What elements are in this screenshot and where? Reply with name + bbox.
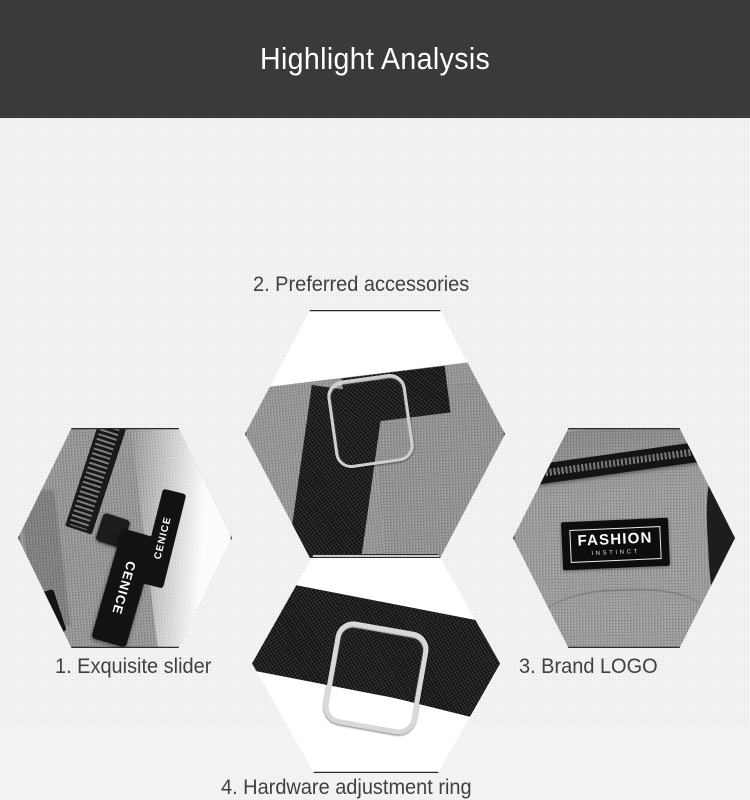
brand-logo-frame: FASHION INSTINCT — [569, 526, 662, 563]
ring-photo — [252, 554, 500, 773]
caption-brand-logo: 3. Brand LOGO — [519, 655, 658, 679]
metal-loop-ring — [325, 372, 415, 470]
accessories-photo — [245, 310, 505, 558]
slider-photo: CENICE CENICE — [18, 428, 232, 648]
feature-hexagon-adjustment-ring[interactable] — [252, 554, 500, 773]
page-title: Highlight Analysis — [260, 41, 490, 77]
accessories-photo-clip — [245, 310, 505, 558]
brand-logo-patch: FASHION INSTINCT — [561, 518, 670, 571]
feature-hexagon-slider[interactable]: CENICE CENICE — [18, 428, 232, 648]
content-stage: 2. Preferred accessories — [0, 118, 750, 727]
bag-side-label-text: CENICE — [152, 515, 173, 560]
slider-photo-clip: CENICE CENICE — [18, 428, 232, 648]
caption-preferred-accessories: 2. Preferred accessories — [253, 273, 469, 297]
logo-photo: FASHION INSTINCT — [513, 428, 735, 648]
zipper-pull-text: CENICE — [109, 560, 139, 617]
feature-hexagon-accessories[interactable] — [245, 310, 505, 558]
brand-logo-secondary-text: INSTINCT — [591, 550, 640, 558]
bag-right-edge-trim — [704, 462, 735, 626]
feature-hexagon-logo[interactable]: FASHION INSTINCT — [513, 428, 735, 648]
header-banner: Highlight Analysis — [0, 0, 750, 118]
caption-hardware-adjustment-ring: 4. Hardware adjustment ring — [221, 776, 472, 800]
ring-photo-clip — [252, 554, 500, 773]
caption-exquisite-slider: 1. Exquisite slider — [55, 655, 211, 679]
adjustment-ring-hardware — [321, 619, 432, 738]
logo-photo-clip: FASHION INSTINCT — [513, 428, 735, 648]
brand-logo-primary-text: FASHION — [577, 531, 653, 549]
